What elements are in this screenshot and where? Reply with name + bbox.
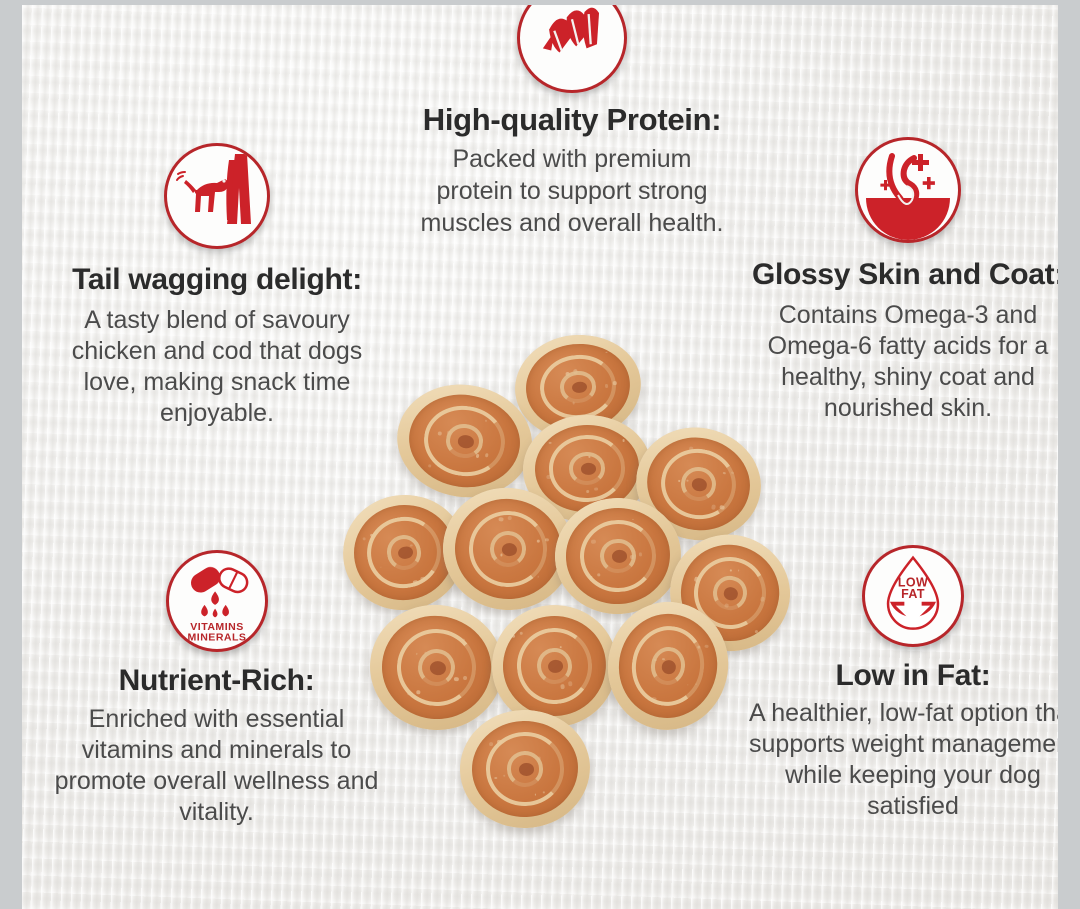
treat-speck xyxy=(362,537,366,541)
treat-speck xyxy=(549,441,552,444)
feature-body: Packed with premium protein to support s… xyxy=(412,143,732,239)
treat-speck xyxy=(605,351,607,353)
treat-speck xyxy=(519,632,523,636)
feature-title: Nutrient-Rich: xyxy=(44,663,389,699)
feature-body: Contains Omega-3 and Omega-6 fatty acids… xyxy=(748,300,1058,424)
feature-body: A tasty blend of savoury chicken and cod… xyxy=(52,305,382,429)
dog-wagging-tail-icon xyxy=(164,143,270,249)
treat-speck xyxy=(511,635,515,639)
feature-title: Tail wagging delight: xyxy=(52,261,382,298)
low-fat-droplet-arrow-icon: LOW FAT xyxy=(862,545,964,647)
feature-body: Enriched with essential vitamins and min… xyxy=(44,704,389,828)
feature-title: Glossy Skin and Coat: xyxy=(748,256,1058,293)
infographic-background: Cluster of sliced pinwheel dog treat rol… xyxy=(22,5,1058,909)
treat-slice xyxy=(458,708,592,830)
hair-follicle-skin-icon xyxy=(855,137,961,243)
feature-tail-wagging-delight: Tail wagging delight: A tasty blend of s… xyxy=(52,143,382,429)
feature-body: A healthier, low-fat option that support… xyxy=(748,698,1058,822)
fat-label: FAT xyxy=(901,587,925,601)
product-photo-treat-cluster: Cluster of sliced pinwheel dog treat rol… xyxy=(340,330,790,840)
minerals-label: MINERALS xyxy=(187,631,246,643)
treat-speck xyxy=(705,644,709,648)
treat-speck xyxy=(538,576,540,578)
feature-nutrient-rich: VITAMINS MINERALS Nutrient-Rich: Enriche… xyxy=(44,550,389,828)
feature-high-quality-protein: High-quality Protein: Packed with premiu… xyxy=(412,5,732,239)
treat-speck xyxy=(632,519,634,521)
treat-speck xyxy=(622,439,625,442)
feature-low-in-fat: LOW FAT Low in Fat: A healthier, low-fat… xyxy=(748,545,1058,822)
feature-title: High-quality Protein: xyxy=(412,101,732,138)
vitamins-minerals-pills-icon: VITAMINS MINERALS xyxy=(166,550,268,652)
infographic-canvas: Cluster of sliced pinwheel dog treat rol… xyxy=(0,0,1080,909)
treat-speck xyxy=(428,465,431,468)
feature-title: Low in Fat: xyxy=(748,658,1058,694)
feature-glossy-skin-and-coat: Glossy Skin and Coat: Contains Omega-3 a… xyxy=(748,137,1058,424)
right-edge-bar xyxy=(1058,0,1080,909)
protein-muscle-icon xyxy=(517,5,627,93)
left-edge-bar xyxy=(0,0,22,909)
